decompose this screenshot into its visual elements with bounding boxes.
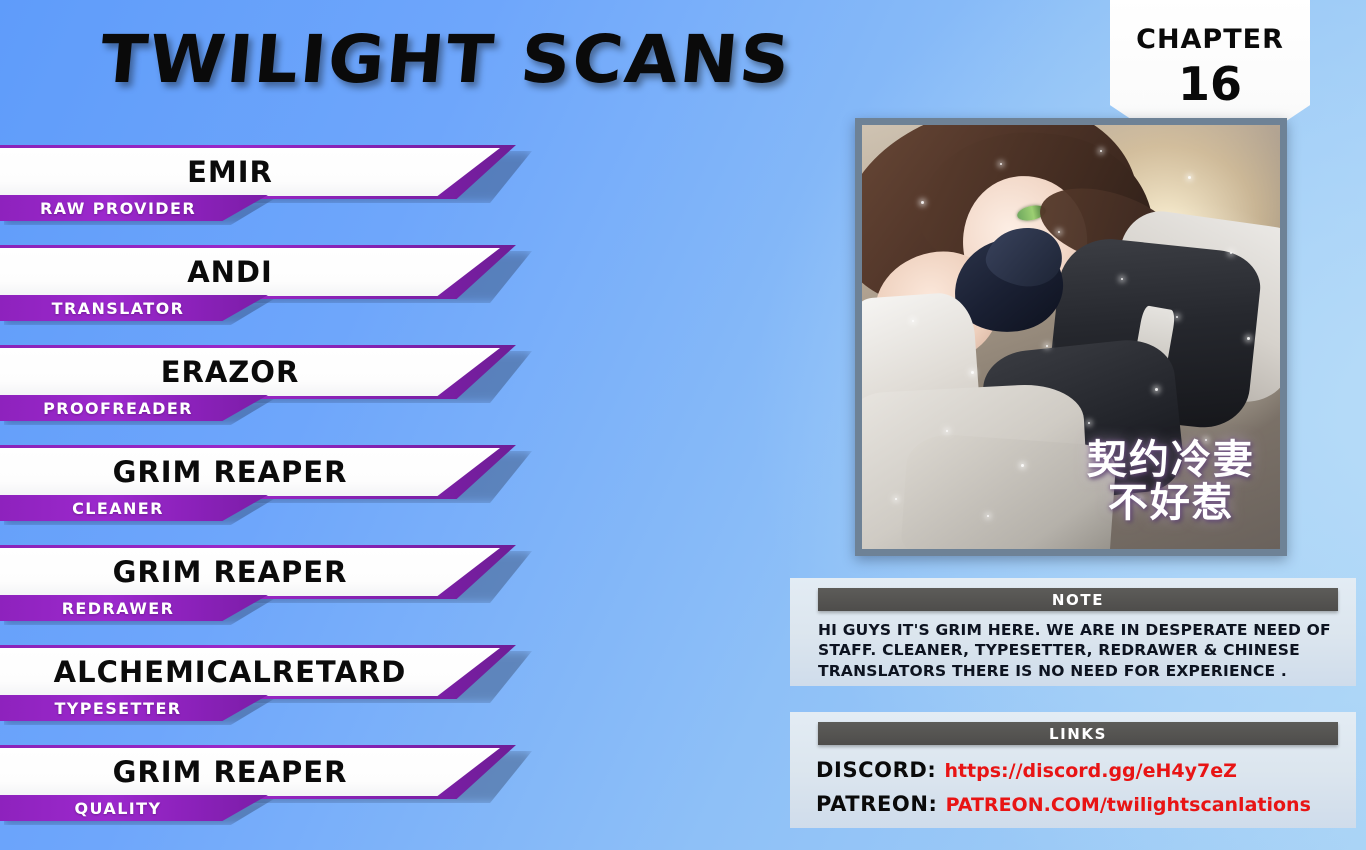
- credit-role-label: PROOFREADER: [0, 395, 236, 421]
- note-body-text: HI GUYS IT'S GRIM HERE. WE ARE IN DESPER…: [818, 620, 1338, 681]
- credit-row: ANDITRANSLATOR: [0, 245, 540, 345]
- credit-row: GRIM REAPERCLEANER: [0, 445, 540, 545]
- sparkle-dot: [1121, 278, 1123, 280]
- patreon-label: PATREON:: [816, 792, 938, 816]
- links-panel: LINKS DISCORD: https://discord.gg/eH4y7e…: [790, 712, 1356, 828]
- page-title: TWILIGHT SCANS: [97, 20, 795, 99]
- note-header-label: NOTE: [1052, 591, 1104, 609]
- sparkle-dot: [921, 201, 924, 204]
- patreon-link-row[interactable]: PATREON: PATREON.COM/twilightscanlations: [816, 792, 1311, 816]
- credit-name-label: GRIM REAPER: [0, 748, 460, 796]
- discord-label: DISCORD:: [816, 758, 936, 782]
- credit-name-label: ALCHEMICALRETARD: [0, 648, 460, 696]
- note-header-bar: NOTE: [818, 588, 1338, 611]
- sparkle-dot: [946, 430, 948, 432]
- credit-role-label: CLEANER: [0, 495, 236, 521]
- sparkle-dot: [1176, 316, 1178, 318]
- sparkle-dot: [1088, 422, 1090, 424]
- credit-role-label: TRANSLATOR: [0, 295, 236, 321]
- note-panel: NOTE HI GUYS IT'S GRIM HERE. WE ARE IN D…: [790, 578, 1356, 686]
- credit-role-label: TYPESETTER: [0, 695, 236, 721]
- cover-title-line-2: 不好惹: [1087, 483, 1255, 524]
- credit-name-label: ANDI: [0, 248, 460, 296]
- credit-role-label: QUALITY: [0, 795, 236, 821]
- patreon-url-link[interactable]: PATREON.COM/twilightscanlations: [946, 794, 1311, 816]
- links-header-bar: LINKS: [818, 722, 1338, 745]
- cover-image-frame: 契约冷妻 不好惹: [855, 118, 1287, 556]
- credit-row: EMIRRAW PROVIDER: [0, 145, 540, 245]
- credit-name-label: ERAZOR: [0, 348, 460, 396]
- discord-url-link[interactable]: https://discord.gg/eH4y7eZ: [944, 760, 1236, 782]
- credit-name-label: EMIR: [0, 148, 460, 196]
- credits-page: TWILIGHT SCANS EMIRRAW PROVIDERANDITRANS…: [0, 0, 1366, 850]
- sparkle-dot: [1155, 388, 1158, 391]
- cover-title-chinese: 契约冷妻 不好惹: [1087, 440, 1255, 524]
- credit-role-label: RAW PROVIDER: [0, 195, 236, 221]
- cover-title-line-1: 契约冷妻: [1087, 440, 1255, 481]
- cover-artwork: 契约冷妻 不好惹: [862, 125, 1280, 549]
- discord-link-row[interactable]: DISCORD: https://discord.gg/eH4y7eZ: [816, 758, 1237, 782]
- credit-row: GRIM REAPERREDRAWER: [0, 545, 540, 645]
- sparkle-dot: [1188, 176, 1191, 179]
- sparkle-dot: [971, 371, 974, 374]
- chapter-word-label: CHAPTER: [1136, 26, 1284, 53]
- credit-name-label: GRIM REAPER: [0, 548, 460, 596]
- credit-row: ERAZORPROOFREADER: [0, 345, 540, 445]
- credit-role-label: REDRAWER: [0, 595, 236, 621]
- sparkle-dot: [1247, 337, 1250, 340]
- credit-row: ALCHEMICALRETARDTYPESETTER: [0, 645, 540, 745]
- credit-name-label: GRIM REAPER: [0, 448, 460, 496]
- links-header-label: LINKS: [1049, 725, 1107, 743]
- credit-row: GRIM REAPERQUALITY: [0, 745, 540, 845]
- chapter-number-label: 16: [1178, 61, 1242, 107]
- cover-sheet-lower: [900, 432, 1117, 549]
